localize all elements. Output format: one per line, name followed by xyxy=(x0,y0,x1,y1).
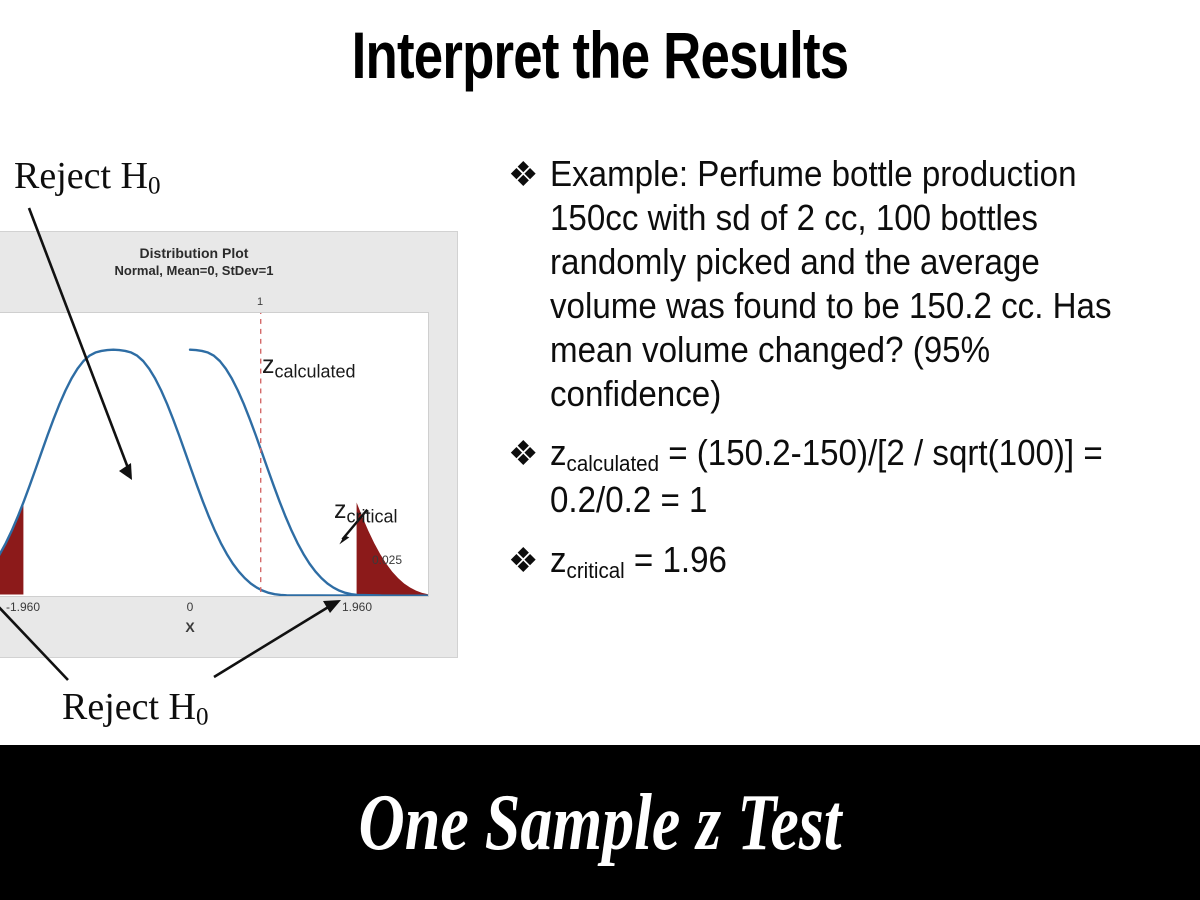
annotation-z-calculated: zcalculated xyxy=(262,351,356,383)
annotation-z-critical: zcritical xyxy=(334,496,398,528)
reject-h0-bottom-subscript: 0 xyxy=(196,704,209,731)
z-critical-symbol: z xyxy=(334,496,347,524)
bullet-text-z-calculated: zcalculated = (150.2-150)/[2 / sqrt(100)… xyxy=(550,431,1200,521)
x-tick-zero: 0 xyxy=(187,600,194,614)
z-critical-subscript: critical xyxy=(567,558,625,583)
reject-h0-bottom-text: Reject H xyxy=(62,686,196,728)
z-calculated-prefix: z xyxy=(550,432,567,473)
z-critical-prefix: z xyxy=(550,539,567,580)
bullet-text-z-critical: zcritical = 1.96 xyxy=(550,538,1200,584)
diamond-bullet-icon: ❖ xyxy=(508,538,550,578)
x-tick-upper-critical: 1.960 xyxy=(342,600,372,614)
list-item: ❖ Example: Perfume bottle production 150… xyxy=(508,152,1200,415)
upper-tail-area-label: 0.025 xyxy=(372,553,402,567)
reject-h0-top-subscript: 0 xyxy=(148,173,161,200)
z-critical-equation: = 1.96 xyxy=(625,539,727,580)
chart-subtitle: Normal, Mean=0, StDev=1 xyxy=(0,263,459,280)
banner-title: One Sample z Test xyxy=(120,783,1080,863)
reject-h0-label-bottom: Reject H0 xyxy=(62,685,209,732)
bottom-banner: One Sample z Test xyxy=(0,745,1200,900)
chart-panel: Distribution Plot Normal, Mean=0, StDev=… xyxy=(0,231,458,658)
chart-title: Distribution Plot xyxy=(0,245,459,263)
distribution-curve-svg xyxy=(0,313,428,596)
diamond-bullet-icon: ❖ xyxy=(508,152,550,192)
reject-h0-top-text: Reject H xyxy=(14,155,148,197)
bullet-list: ❖ Example: Perfume bottle production 150… xyxy=(508,152,1200,600)
list-item: ❖ zcalculated = (150.2-150)/[2 / sqrt(10… xyxy=(508,431,1200,521)
slide-root: Interpret the Results Distribution Plot … xyxy=(0,0,1200,900)
z-calculated-subscript: calculated xyxy=(275,362,356,382)
diamond-bullet-icon: ❖ xyxy=(508,431,550,471)
reference-line-tick-label: 1 xyxy=(257,296,263,308)
chart-title-block: Distribution Plot Normal, Mean=0, StDev=… xyxy=(0,245,459,279)
bullet-text-example: Example: Perfume bottle production 150cc… xyxy=(550,152,1200,415)
x-axis-ticks: -1.960 0 1.960 xyxy=(0,600,429,616)
x-tick-lower-critical: -1.960 xyxy=(6,600,40,614)
x-axis-title: X xyxy=(0,619,429,635)
page-title: Interpret the Results xyxy=(120,22,1080,88)
plot-area: 1 0.025 zcalculated zcritical xyxy=(0,312,429,597)
z-calculated-symbol: z xyxy=(262,351,275,379)
z-critical-subscript: critical xyxy=(347,507,398,527)
reject-h0-label-top: Reject H0 xyxy=(14,154,161,201)
distribution-figure: Distribution Plot Normal, Mean=0, StDev=… xyxy=(0,140,480,745)
list-item: ❖ zcritical = 1.96 xyxy=(508,538,1200,584)
z-calculated-subscript: calculated xyxy=(567,452,659,477)
